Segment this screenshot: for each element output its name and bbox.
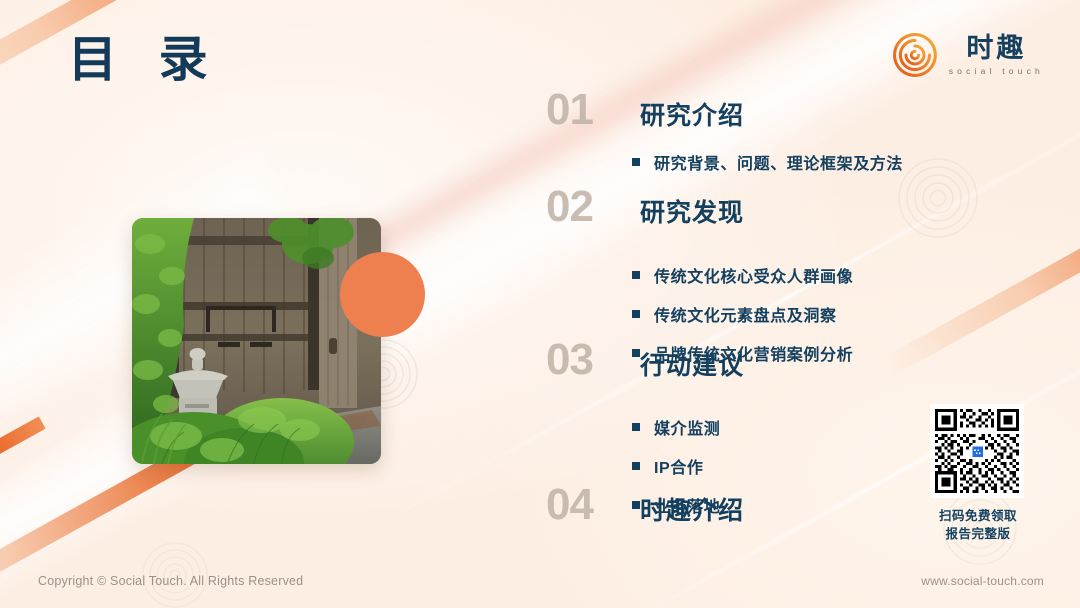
agenda-section-02-title: 研究发现 — [640, 201, 744, 226]
list-item[interactable]: IP合作 — [632, 454, 744, 478]
square-bullet-icon — [632, 462, 640, 470]
brand-logo: 时趣 social touch — [892, 32, 1044, 78]
agenda-section-04-title: 时趣介绍 — [640, 499, 744, 524]
square-bullet-icon — [632, 423, 640, 431]
garden-photo-illustration — [132, 218, 381, 464]
agenda-section-03-title: 行动建议 — [640, 354, 744, 379]
qr-caption: 扫码免费领取 报告完整版 — [930, 507, 1026, 543]
page-title: 目 录 — [68, 32, 222, 88]
agenda-section-01-number: 01 — [546, 88, 618, 132]
list-item[interactable]: 传统文化元素盘点及洞察 — [632, 302, 853, 326]
agenda-section-04-head: 04 时趣介绍 — [546, 483, 744, 527]
agenda-section-01-bullets: 研究背景、问题、理论框架及方法 — [632, 150, 903, 174]
spiral-logo-icon — [892, 32, 938, 78]
square-bullet-icon — [632, 158, 640, 166]
list-item-label: 传统文化元素盘点及洞察 — [654, 302, 837, 326]
list-item[interactable]: 媒介监测 — [632, 415, 744, 439]
qr-caption-line1: 扫码免费领取 — [930, 507, 1026, 525]
agenda-section-01-title: 研究介绍 — [640, 104, 744, 129]
square-bullet-icon — [632, 310, 640, 318]
brand-name-en: social touch — [949, 66, 1044, 76]
qr-code-icon[interactable] — [930, 404, 1024, 498]
agenda-section-02-number: 02 — [546, 185, 618, 229]
japanese-garden-photo — [132, 218, 381, 464]
qr-block: 扫码免费领取 报告完整版 — [930, 404, 1026, 543]
orange-circle-decoration — [340, 252, 425, 337]
list-item-label: IP合作 — [654, 454, 704, 478]
square-bullet-icon — [632, 271, 640, 279]
footer-website[interactable]: www.social-touch.com — [921, 574, 1044, 588]
list-item-label: 传统文化核心受众人群画像 — [654, 263, 853, 287]
brand-name-cn: 时趣 — [966, 34, 1026, 62]
list-item-label: 研究背景、问题、理论框架及方法 — [654, 150, 903, 174]
agenda-section-02-head: 02 研究发现 — [546, 185, 853, 229]
list-item-label: 媒介监测 — [654, 415, 720, 439]
list-item[interactable]: 传统文化核心受众人群画像 — [632, 263, 853, 287]
brand-wordmark: 时趣 social touch — [949, 34, 1044, 75]
slide-root: 目 录 时趣 social touch — [0, 0, 1080, 608]
agenda-section-04-number: 04 — [546, 483, 618, 527]
agenda-section-03-number: 03 — [546, 338, 618, 382]
agenda-section-04[interactable]: 04 时趣介绍 — [546, 483, 744, 527]
agenda-section-03-head: 03 行动建议 — [546, 338, 744, 382]
agenda-section-01-head: 01 研究介绍 — [546, 88, 903, 132]
list-item[interactable]: 研究背景、问题、理论框架及方法 — [632, 150, 903, 174]
qr-caption-line2: 报告完整版 — [930, 525, 1026, 543]
agenda-section-01[interactable]: 01 研究介绍 研究背景、问题、理论框架及方法 — [546, 88, 903, 174]
footer-copyright: Copyright © Social Touch. All Rights Res… — [38, 574, 303, 588]
